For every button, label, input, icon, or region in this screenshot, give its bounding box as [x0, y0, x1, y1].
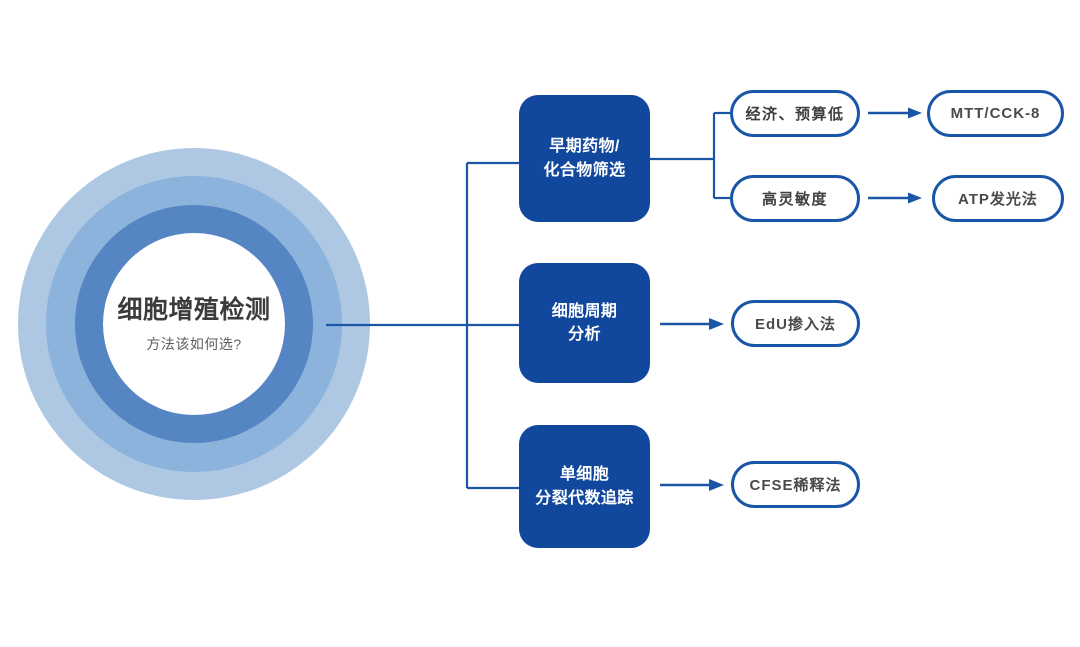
category-line-1: 单细胞	[560, 466, 609, 483]
hub-title: 细胞增殖检测	[117, 295, 270, 325]
arrow-head-box3-to-method4	[709, 479, 724, 491]
category-box-drug-screening[interactable]: 早期药物/ 化合物筛选	[519, 95, 650, 222]
category-box-single-cell-division[interactable]: 单细胞 分裂代数追踪	[519, 425, 650, 548]
category-line-2: 分析	[568, 326, 601, 343]
method-pill-mtt-cck8[interactable]: MTT/CCK-8	[927, 90, 1064, 137]
arrow-head-cond2-to-method2	[908, 193, 922, 204]
arrow-head-cond1-to-method1	[908, 108, 922, 119]
category-line-2: 分裂代数追踪	[535, 490, 633, 507]
method-pill-atp-luminescence[interactable]: ATP发光法	[932, 175, 1064, 222]
category-line-2: 化合物筛选	[543, 162, 625, 179]
hub-core: 细胞增殖检测 方法该如何选?	[103, 233, 285, 415]
diagram-canvas: 细胞增殖检测 方法该如何选? 早期药物/ 化合物筛选	[0, 0, 1080, 647]
hub-subtitle: 方法该如何选?	[146, 334, 241, 354]
condition-pill-low-budget[interactable]: 经济、预算低	[730, 90, 860, 137]
category-box-label: 早期药物/ 化合物筛选	[543, 135, 625, 181]
central-hub: 细胞增殖检测 方法该如何选?	[18, 148, 370, 500]
category-box-label: 细胞周期 分析	[552, 300, 618, 346]
category-line-1: 细胞周期	[552, 303, 618, 320]
category-line-1: 早期药物/	[549, 138, 619, 155]
condition-pill-high-sensitivity[interactable]: 高灵敏度	[730, 175, 860, 222]
category-box-label: 单细胞 分裂代数追踪	[535, 463, 633, 509]
method-pill-cfse-dilution[interactable]: CFSE稀释法	[731, 461, 860, 508]
arrow-head-box2-to-method3	[709, 318, 724, 330]
method-pill-edu-incorporation[interactable]: EdU掺入法	[731, 300, 860, 347]
category-box-cell-cycle[interactable]: 细胞周期 分析	[519, 263, 650, 383]
